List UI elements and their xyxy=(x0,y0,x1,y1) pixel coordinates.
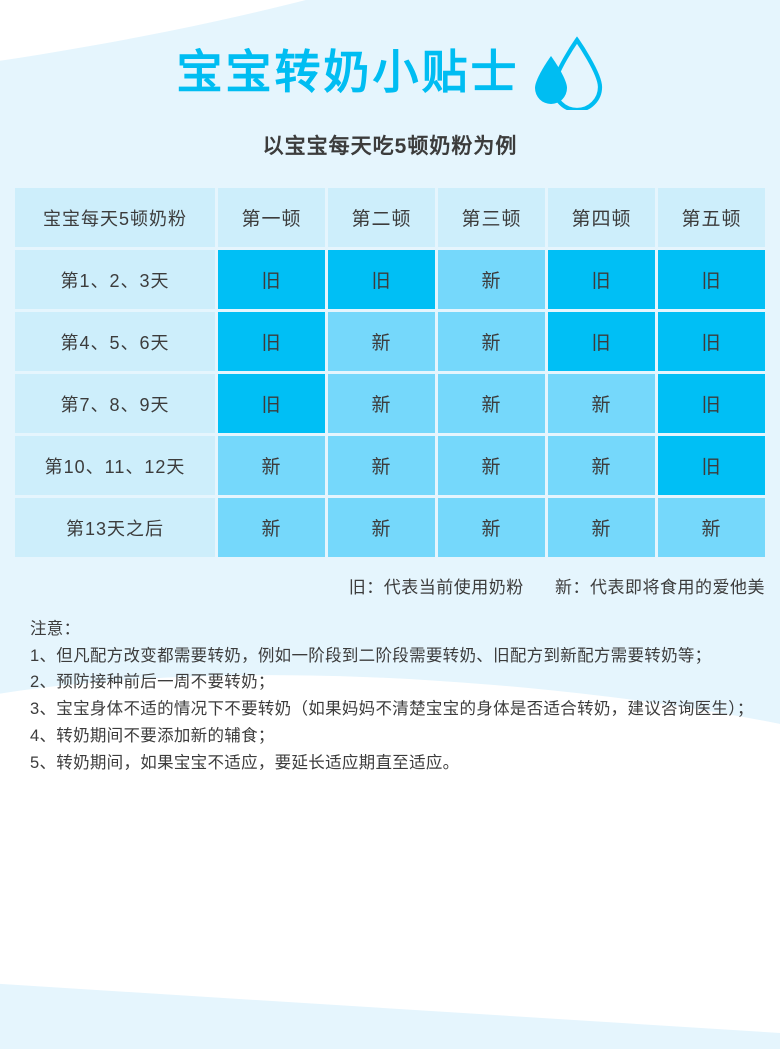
table-cell-old: 旧 xyxy=(218,250,325,309)
table-cell-old: 旧 xyxy=(658,374,765,433)
table-row: 第10、11、12天新新新新旧 xyxy=(15,436,765,495)
page-subtitle: 以宝宝每天吃5顿奶粉为例 xyxy=(0,130,780,160)
table-row: 第7、8、9天旧新新新旧 xyxy=(15,374,765,433)
table-row-label: 第7、8、9天 xyxy=(15,374,215,433)
legend: 旧：代表当前使用奶粉 新：代表即将食用的爱他美 xyxy=(0,573,765,598)
table-cell-old: 旧 xyxy=(658,312,765,371)
table-row: 第4、5、6天旧新新旧旧 xyxy=(15,312,765,371)
table-body: 第1、2、3天旧旧新旧旧第4、5、6天旧新新旧旧第7、8、9天旧新新新旧第10、… xyxy=(15,250,765,557)
table-cell-new: 新 xyxy=(328,436,435,495)
note-item: 3、宝宝身体不适的情况下不要转奶（如果妈妈不清楚宝宝的身体是否适合转奶，建议咨询… xyxy=(30,696,764,723)
page-root: 宝宝转奶小贴士 以宝宝每天吃5顿奶粉为例 宝宝每天5顿奶粉 第一顿 第二顿 第三… xyxy=(0,0,780,800)
table-cell-new: 新 xyxy=(548,498,655,557)
table-header-cell-5: 第五顿 xyxy=(658,188,765,247)
table-header-row: 宝宝每天5顿奶粉 第一顿 第二顿 第三顿 第四顿 第五顿 xyxy=(15,188,765,247)
note-item: 5、转奶期间，如果宝宝不适应，要延长适应期直至适应。 xyxy=(30,750,764,777)
table-cell-new: 新 xyxy=(438,436,545,495)
note-item: 4、转奶期间不要添加新的辅食； xyxy=(30,723,764,750)
table-cell-new: 新 xyxy=(438,312,545,371)
table-header-cell-2: 第二顿 xyxy=(328,188,435,247)
table-cell-new: 新 xyxy=(218,436,325,495)
water-drop-icon-group xyxy=(530,34,604,110)
table-cell-new: 新 xyxy=(328,312,435,371)
note-item: 2、预防接种前后一周不要转奶； xyxy=(30,669,764,696)
table-cell-old: 旧 xyxy=(658,250,765,309)
table-row-label: 第1、2、3天 xyxy=(15,250,215,309)
table-cell-old: 旧 xyxy=(328,250,435,309)
schedule-table: 宝宝每天5顿奶粉 第一顿 第二顿 第三顿 第四顿 第五顿 第1、2、3天旧旧新旧… xyxy=(15,188,765,557)
note-item: 1、但凡配方改变都需要转奶，例如一阶段到二阶段需要转奶、旧配方到新配方需要转奶等… xyxy=(30,643,764,670)
legend-new: 新：代表即将食用的爱他美 xyxy=(555,578,765,597)
title-row: 宝宝转奶小贴士 xyxy=(0,34,780,110)
table-row: 第13天之后新新新新新 xyxy=(15,498,765,557)
table-cell-new: 新 xyxy=(548,374,655,433)
table-header-cell-4: 第四顿 xyxy=(548,188,655,247)
table-cell-new: 新 xyxy=(328,498,435,557)
notes-heading: 注意： xyxy=(30,616,764,643)
table-cell-new: 新 xyxy=(658,498,765,557)
table-row-label: 第13天之后 xyxy=(15,498,215,557)
table-cell-old: 旧 xyxy=(658,436,765,495)
table-cell-new: 新 xyxy=(328,374,435,433)
table-cell-old: 旧 xyxy=(548,312,655,371)
page-header: 宝宝转奶小贴士 以宝宝每天吃5顿奶粉为例 xyxy=(0,0,780,160)
table-cell-new: 新 xyxy=(548,436,655,495)
table-row-label: 第10、11、12天 xyxy=(15,436,215,495)
table-cell-new: 新 xyxy=(438,374,545,433)
table-header-cell-3: 第三顿 xyxy=(438,188,545,247)
table-row-label: 第4、5、6天 xyxy=(15,312,215,371)
table-header-cell-label: 宝宝每天5顿奶粉 xyxy=(15,188,215,247)
table-cell-new: 新 xyxy=(218,498,325,557)
table-header-cell-1: 第一顿 xyxy=(218,188,325,247)
notes-items: 1、但凡配方改变都需要转奶，例如一阶段到二阶段需要转奶、旧配方到新配方需要转奶等… xyxy=(30,643,764,777)
page-title: 宝宝转奶小贴士 xyxy=(177,46,520,99)
table-cell-new: 新 xyxy=(438,250,545,309)
notes-block: 注意： 1、但凡配方改变都需要转奶，例如一阶段到二阶段需要转奶、旧配方到新配方需… xyxy=(30,616,764,776)
table-row: 第1、2、3天旧旧新旧旧 xyxy=(15,250,765,309)
table-cell-old: 旧 xyxy=(218,312,325,371)
table-cell-old: 旧 xyxy=(548,250,655,309)
table-cell-new: 新 xyxy=(438,498,545,557)
table-cell-old: 旧 xyxy=(218,374,325,433)
legend-old: 旧：代表当前使用奶粉 xyxy=(349,578,524,597)
